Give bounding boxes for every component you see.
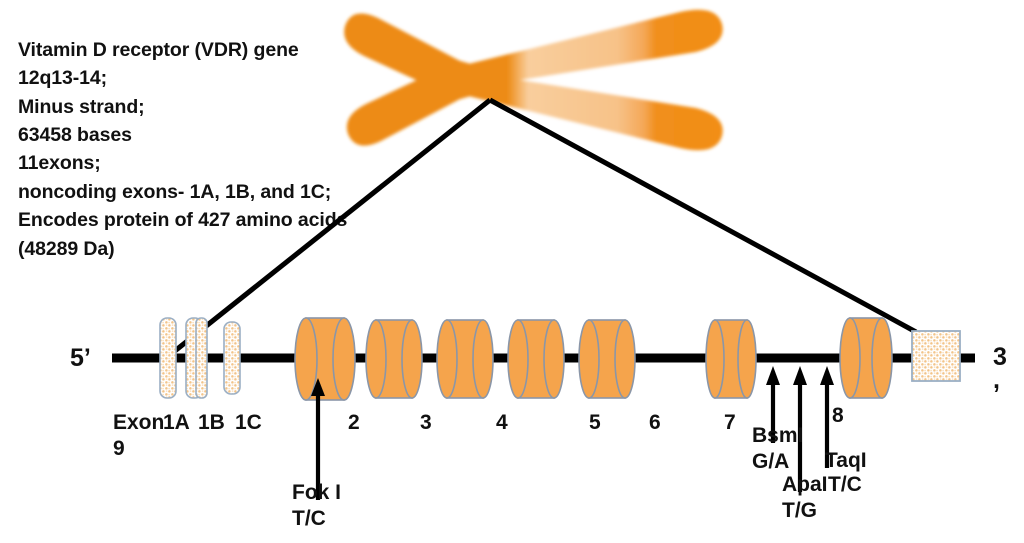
snp-taq1-alleles-label: T/C	[828, 473, 862, 497]
noncoding-exon-1B	[186, 318, 207, 398]
noncoding-exon-1B-label: 1B	[198, 411, 225, 435]
coding-exon-2-label: 2	[348, 411, 360, 435]
coding-exon-6-label: 6	[649, 411, 661, 435]
three-prime-utr-box	[912, 331, 960, 381]
five-prime-label: 5’	[70, 344, 91, 372]
noncoding-exon-1C	[224, 322, 240, 394]
coding-exon-3-label: 3	[420, 411, 432, 435]
coding-exon-8-label: 8	[832, 404, 844, 428]
coding-exon-5-label: 5	[589, 411, 601, 435]
coding-exon-3	[366, 320, 422, 398]
coding-exon-5	[508, 320, 564, 398]
coding-exon-8	[840, 318, 892, 398]
coding-exon-2	[295, 318, 355, 400]
snp-apa1-enzyme-label: ApaI	[782, 473, 828, 497]
noncoding-exon-prefix-label: Exon	[113, 411, 164, 435]
snp-bsm1-alleles-label: G/A	[752, 450, 789, 474]
snp-bsm1-enzyme-label: BsmI	[752, 424, 803, 448]
snp-taq1-enzyme-label: TaqI	[825, 449, 867, 473]
three-prime-mark: ,	[993, 366, 1000, 394]
coding-exon-6	[579, 320, 635, 398]
figure-canvas: Vitamin D receptor (VDR) gene 12q13-14; …	[0, 0, 1024, 543]
noncoding-exon-1C-label: 1C	[235, 411, 262, 435]
coding-exon-7	[706, 320, 756, 398]
noncoding-exon-1A	[160, 318, 176, 398]
noncoding-exon-1A-label: 1A	[163, 411, 190, 435]
snp-apa1-alleles-label: T/G	[782, 499, 817, 523]
coding-exon-7-label: 7	[724, 411, 736, 435]
chromosome-long-arm-lower	[460, 72, 723, 150]
chromosome-12-graphic	[344, 10, 723, 151]
diagram-svg	[0, 0, 1024, 543]
centromere	[445, 58, 478, 102]
chromosome-long-arm-upper	[460, 10, 723, 88]
snp-fok1-enzyme-label: Fok I	[292, 481, 341, 505]
coding-exon-4-label: 4	[496, 411, 508, 435]
snp-fok1-alleles-label: T/C	[292, 507, 326, 531]
coding-exon-4	[437, 320, 493, 398]
exon-9-label: 9	[113, 437, 125, 461]
